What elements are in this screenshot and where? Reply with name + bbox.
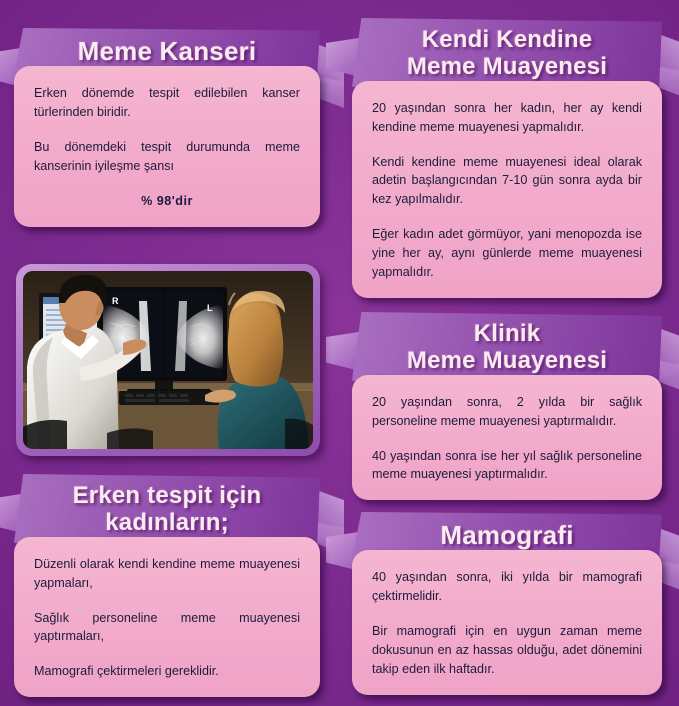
panel-title: Meme Kanseri	[48, 37, 286, 66]
photo-doctor-patient: R L	[23, 271, 313, 449]
paragraph: 40 yaşından sonra ise her yıl sağlık per…	[372, 447, 642, 485]
panel-title: Kendi Kendine Meme Muayenesi	[386, 27, 628, 81]
panel-title: Klinik Meme Muayenesi	[386, 321, 628, 375]
panel-title: Erken tespit için kadınların;	[48, 483, 286, 537]
paragraph: 40 yaşından sonra, iki yılda bir mamogra…	[372, 568, 642, 606]
panel-erken-tespit: Erken tespit için kadınların; Düzenli ol…	[14, 474, 320, 697]
paragraph: Bu dönemdeki tespit durumunda meme kanse…	[34, 138, 300, 176]
panel-title: Mamografi	[386, 521, 628, 550]
statistic-value: % 98'dir	[34, 192, 300, 211]
card-mamografi: 40 yaşından sonra, iki yılda bir mamogra…	[352, 550, 662, 694]
paragraph: 20 yaşından sonra her kadın, her ay kend…	[372, 99, 642, 137]
panel-klinik-meme-muayenesi: Klinik Meme Muayenesi 20 yaşından sonra,…	[352, 312, 662, 500]
photo-frame: R L	[16, 264, 320, 456]
card-klinik: 20 yaşından sonra, 2 yılda bir sağlık pe…	[352, 375, 662, 501]
paragraph: Mamografi çektirmeleri gereklidir.	[34, 662, 300, 681]
paragraph: Erken dönemde tespit edilebilen kanser t…	[34, 84, 300, 122]
panel-mamografi: Mamografi 40 yaşından sonra, iki yılda b…	[352, 512, 662, 695]
svg-text:L: L	[207, 303, 213, 313]
card-meme-kanseri: Erken dönemde tespit edilebilen kanser t…	[14, 66, 320, 226]
paragraph: Eğer kadın adet görmüyor, yani menopozda…	[372, 225, 642, 282]
paragraph: Sağlık personeline meme muayenesi yaptır…	[34, 609, 300, 647]
infographic-canvas: Meme Kanseri Erken dönemde tespit edileb…	[0, 0, 679, 706]
paragraph: 20 yaşından sonra, 2 yılda bir sağlık pe…	[372, 393, 642, 431]
panel-kendi-kendine-meme-muayenesi: Kendi Kendine Meme Muayenesi 20 yaşından…	[352, 18, 662, 298]
paragraph: Bir mamografi için en uygun zaman meme d…	[372, 622, 642, 679]
paragraph: Kendi kendine meme muayenesi ideal olara…	[372, 153, 642, 210]
card-erken-tespit: Düzenli olarak kendi kendine meme muayen…	[14, 537, 320, 697]
photo-illustration-icon: R L	[23, 271, 313, 449]
card-kendi-kendine: 20 yaşından sonra her kadın, her ay kend…	[352, 81, 662, 298]
paragraph: Düzenli olarak kendi kendine meme muayen…	[34, 555, 300, 593]
panel-meme-kanseri: Meme Kanseri Erken dönemde tespit edileb…	[14, 28, 320, 227]
svg-text:R: R	[112, 296, 119, 306]
